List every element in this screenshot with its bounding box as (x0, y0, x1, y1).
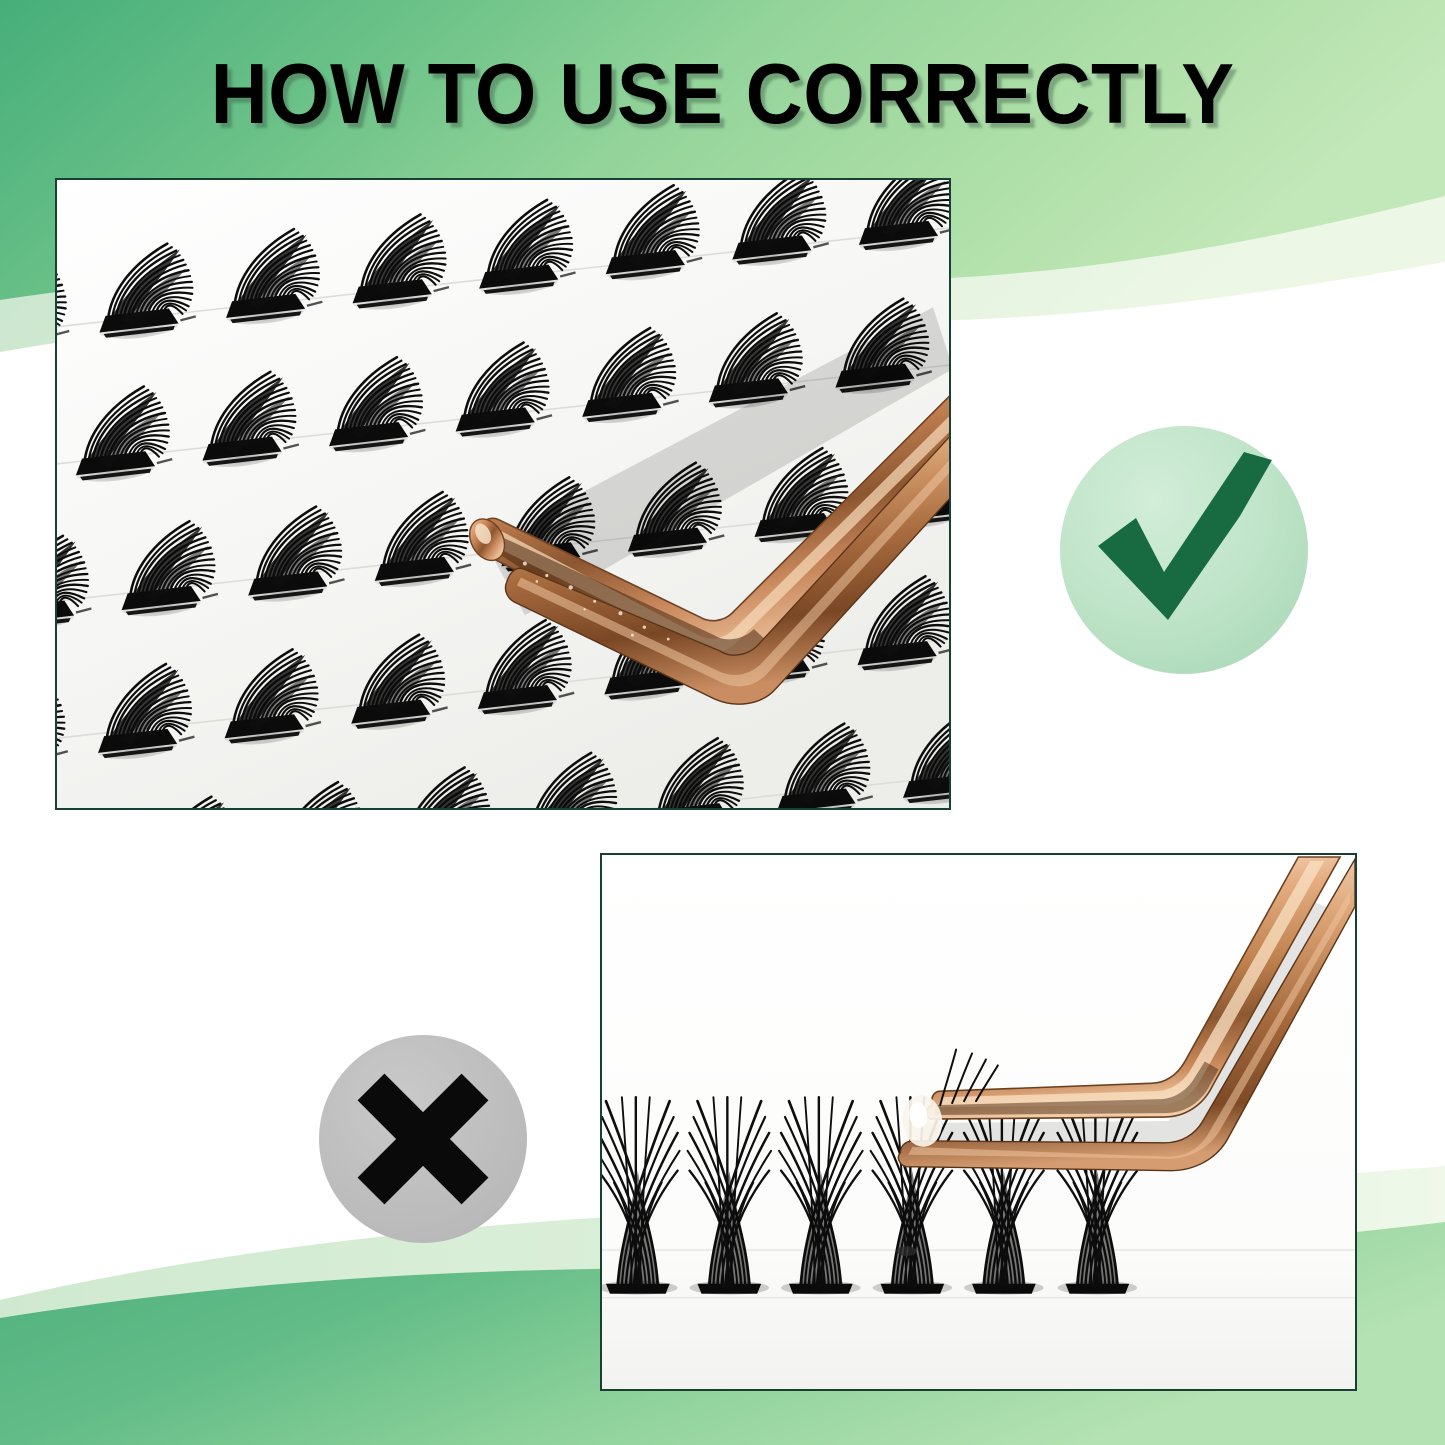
cross-badge (317, 1033, 529, 1245)
lash-tray-illustration (57, 180, 949, 808)
incorrect-usage-photo-panel (600, 853, 1357, 1391)
correct-usage-photo-panel (55, 178, 951, 810)
checkmark-badge (1058, 424, 1310, 676)
standing-lashes-illustration (602, 855, 1355, 1389)
check-icon (1058, 424, 1310, 676)
page-title: HOW TO USE CORRECTLY (51, 46, 1395, 144)
infographic-canvas: HOW TO USE CORRECTLY (0, 0, 1445, 1445)
cross-icon (317, 1033, 529, 1245)
